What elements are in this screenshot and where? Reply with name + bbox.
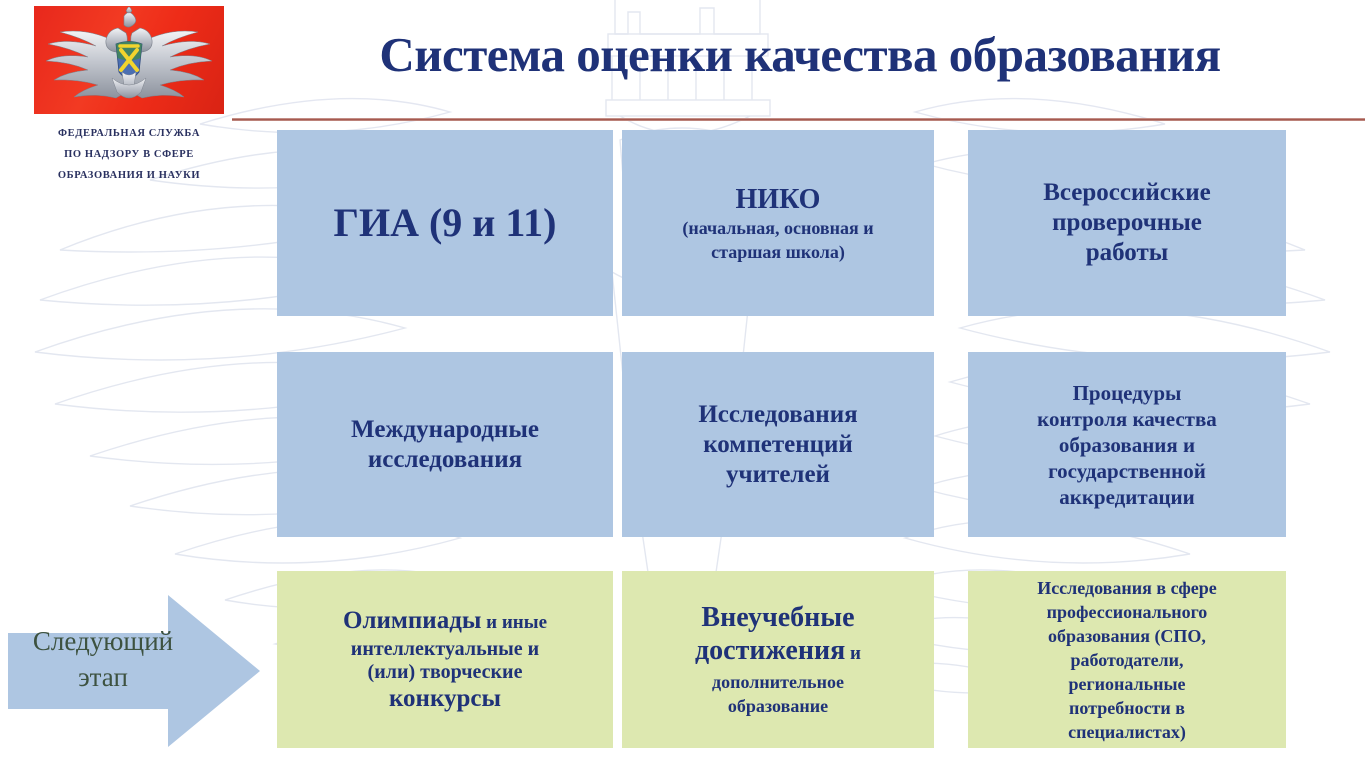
- scheme-box-line: Олимпиады и иные: [287, 606, 603, 638]
- scheme-box-line: работы: [978, 238, 1276, 268]
- scheme-box-line: специалистах): [978, 720, 1276, 744]
- scheme-box-issledovaniya-prof-obrazovanie[interactable]: Исследования в сферепрофессиональногообр…: [968, 571, 1286, 748]
- scheme-box-line: Исследования: [632, 400, 924, 430]
- slide-root: ФЕДЕРАЛЬНАЯ СЛУЖБА ПО НАДЗОРУ В СФЕРЕ ОБ…: [0, 0, 1365, 768]
- next-stage-arrow[interactable]: Следующий этап: [8, 585, 263, 757]
- scheme-box-line: конкурсы: [287, 684, 603, 714]
- scheme-box-line: исследования: [287, 445, 603, 475]
- scheme-box-line: региональные: [978, 672, 1276, 696]
- scheme-box-text: Олимпиады и иныеинтеллектуальные и(или) …: [287, 606, 603, 714]
- scheme-box-line: ГИА (9 и 11): [287, 200, 603, 246]
- scheme-box-line: проверочные: [978, 208, 1276, 238]
- scheme-box-text: Процедурыконтроля качестваобразования иг…: [978, 380, 1276, 510]
- scheme-box-text: Исследованиякомпетенцийучителей: [632, 400, 924, 490]
- scheme-box-vpr[interactable]: Всероссийскиепроверочныеработы: [968, 130, 1286, 316]
- scheme-box-line: НИКО: [632, 183, 924, 216]
- scheme-box-line: Всероссийские: [978, 178, 1276, 208]
- scheme-box-line: образования (СПО,: [978, 624, 1276, 648]
- next-stage-label-line-2: этап: [18, 659, 188, 695]
- next-stage-label-line-1: Следующий: [18, 623, 188, 659]
- scheme-box-text: ГИА (9 и 11): [287, 200, 603, 246]
- scheme-box-text: Исследования в сферепрофессиональногообр…: [978, 576, 1276, 744]
- scheme-box-line: Внеучебные: [632, 601, 924, 634]
- organization-logo: ФЕДЕРАЛЬНАЯ СЛУЖБА ПО НАДЗОРУ В СФЕРЕ ОБ…: [34, 6, 224, 186]
- logo-caption-line-2: ПО НАДЗОРУ В СФЕРЕ: [34, 144, 224, 165]
- scheme-box-line: Процедуры: [978, 380, 1276, 406]
- logo-caption-line-1: ФЕДЕРАЛЬНАЯ СЛУЖБА: [34, 123, 224, 144]
- scheme-box-olimpiady[interactable]: Олимпиады и иныеинтеллектуальные и(или) …: [277, 571, 613, 748]
- scheme-box-line: государственной: [978, 458, 1276, 484]
- scheme-box-line: потребности в: [978, 696, 1276, 720]
- scheme-box-line: контроля качества: [978, 406, 1276, 432]
- rosobrnadzor-emblem-icon: [34, 6, 224, 114]
- scheme-box-gia[interactable]: ГИА (9 и 11): [277, 130, 613, 316]
- scheme-box-line: достижения и: [632, 634, 924, 670]
- scheme-box-line: учителей: [632, 460, 924, 490]
- scheme-box-line: интеллектуальные и: [287, 638, 603, 661]
- scheme-box-line: компетенций: [632, 430, 924, 460]
- page-title: Система оценки качества образования: [240, 26, 1360, 83]
- scheme-box-line-suffix: и иные: [481, 612, 547, 633]
- scheme-box-line: аккредитации: [978, 484, 1276, 510]
- title-divider: [232, 118, 1365, 121]
- scheme-box-line: (начальная, основная и: [632, 216, 924, 240]
- scheme-box-line: (или) творческие: [287, 661, 603, 684]
- scheme-box-text: Внеучебныедостижения идополнительноеобра…: [632, 601, 924, 718]
- scheme-box-line: профессионального: [978, 600, 1276, 624]
- scheme-box-issledovaniya-kompetenciy-uchiteley[interactable]: Исследованиякомпетенцийучителей: [622, 352, 934, 537]
- scheme-box-line: Исследования в сфере: [978, 576, 1276, 600]
- next-stage-label: Следующий этап: [18, 623, 188, 695]
- scheme-box-line: дополнительное: [632, 670, 924, 694]
- scheme-box-vneuchebnye-dostizheniya[interactable]: Внеучебныедостижения идополнительноеобра…: [622, 571, 934, 748]
- scheme-box-mezhdunarodnye-issledovaniya[interactable]: Международныеисследования: [277, 352, 613, 537]
- scheme-box-line: образования и: [978, 432, 1276, 458]
- scheme-box-procedury-kontrolya[interactable]: Процедурыконтроля качестваобразования иг…: [968, 352, 1286, 537]
- scheme-box-line: старшая школа): [632, 240, 924, 264]
- scheme-box-text: Международныеисследования: [287, 415, 603, 475]
- logo-caption-line-3: ОБРАЗОВАНИЯ И НАУКИ: [34, 165, 224, 186]
- scheme-box-line: образование: [632, 694, 924, 718]
- logo-caption: ФЕДЕРАЛЬНАЯ СЛУЖБА ПО НАДЗОРУ В СФЕРЕ ОБ…: [34, 123, 224, 186]
- scheme-box-line: Международные: [287, 415, 603, 445]
- scheme-box-niko[interactable]: НИКО(начальная, основная истаршая школа): [622, 130, 934, 316]
- scheme-box-line: работодатели,: [978, 648, 1276, 672]
- scheme-box-line-suffix: и: [845, 643, 861, 664]
- scheme-box-text: Всероссийскиепроверочныеработы: [978, 178, 1276, 268]
- scheme-box-text: НИКО(начальная, основная истаршая школа): [632, 183, 924, 264]
